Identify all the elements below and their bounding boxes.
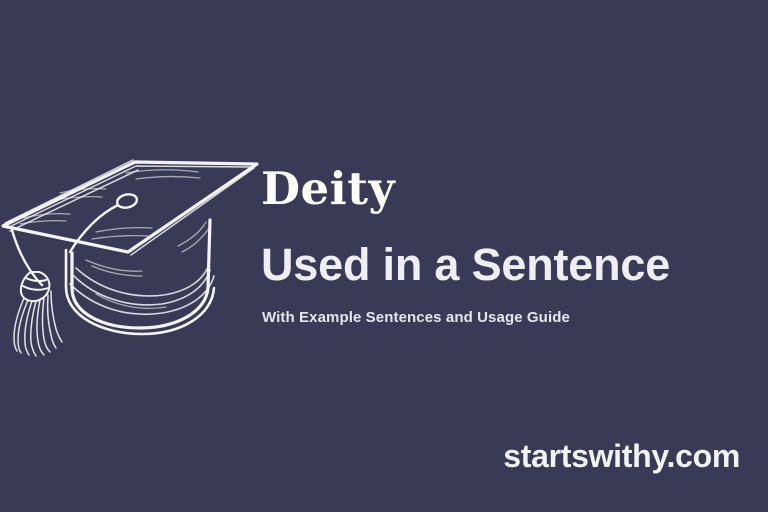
hero-text-block: Deity Used in a Sentence With Example Se…: [261, 166, 761, 211]
page-canvas: Deity Used in a Sentence With Example Se…: [0, 0, 768, 512]
word-title: Deity: [261, 166, 761, 211]
page-subtitle: With Example Sentences and Usage Guide: [262, 310, 570, 325]
brand-watermark: startswithy.com: [503, 440, 740, 472]
page-title: Used in a Sentence: [261, 242, 670, 287]
graduation-cap-icon: [0, 148, 262, 360]
